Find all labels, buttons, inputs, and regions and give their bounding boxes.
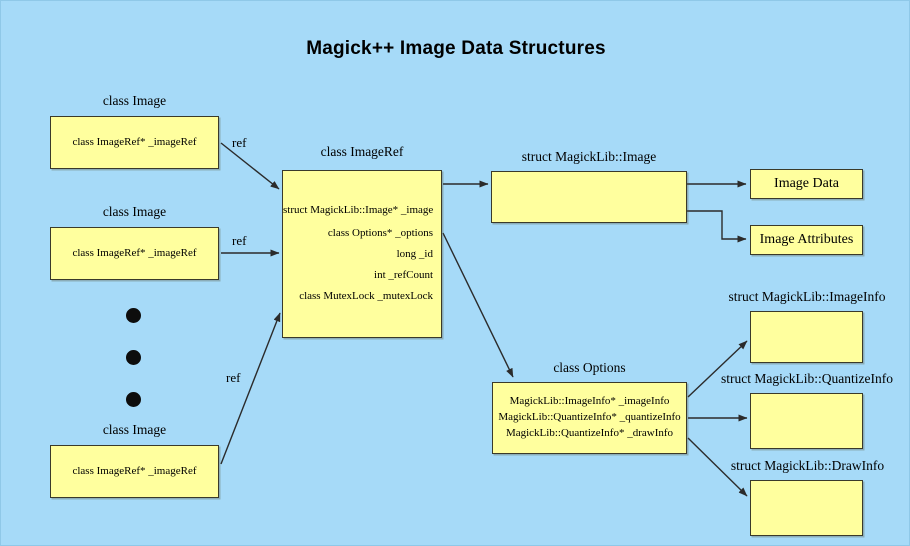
edge-label-ref-1: ref [232,135,246,151]
box-struct-drawinfo[interactable] [750,480,863,536]
box-image-data[interactable]: Image Data [750,169,863,199]
ellipsis-dot-3 [126,392,141,407]
member-image-1-imageref: class ImageRef* _imageRef [51,135,218,151]
caption-class-imageref: class ImageRef [282,144,442,160]
member-image-3-imageref: class ImageRef* _imageRef [51,464,218,480]
arrow-magicklib-image-to-image-attributes [687,211,746,239]
arrow-imageref-to-options [443,233,513,377]
caption-struct-drawinfo: struct MagickLib::DrawInfo [720,458,895,474]
edge-label-ref-3: ref [226,370,240,386]
box-class-options[interactable]: MagickLib::ImageInfo* _imageInfo MagickL… [492,382,687,454]
diagram-canvas: Magick++ Image Data Structures class Ima… [0,0,910,546]
member-image-2-imageref: class ImageRef* _imageRef [51,246,218,262]
caption-class-options: class Options [492,360,687,376]
edge-label-ref-2: ref [232,233,246,249]
caption-struct-magicklib-image: struct MagickLib::Image [491,149,687,165]
arrow-image1-to-imageref [221,143,279,189]
arrow-image3-to-imageref [221,313,280,464]
box-class-imageref[interactable]: struct MagickLib::Image* _image class Op… [282,170,442,338]
box-class-image-1[interactable]: class ImageRef* _imageRef [50,116,219,169]
caption-struct-quantizeinfo: struct MagickLib::QuantizeInfo [707,371,907,387]
box-struct-imageinfo[interactable] [750,311,863,363]
member-imageref-mutexlock: class MutexLock _mutexLock [283,289,433,305]
member-options-drawinfo: MagickLib::QuantizeInfo* _drawInfo [493,426,686,442]
ellipsis-dot-1 [126,308,141,323]
member-imageref-options: class Options* _options [283,226,433,242]
member-options-imageinfo: MagickLib::ImageInfo* _imageInfo [493,394,686,410]
box-image-attributes[interactable]: Image Attributes [750,225,863,255]
ellipsis-dot-2 [126,350,141,365]
label-image-data: Image Data [751,174,862,194]
caption-struct-imageinfo: struct MagickLib::ImageInfo [716,289,898,305]
member-imageref-image: struct MagickLib::Image* _image [283,203,433,219]
box-class-image-2[interactable]: class ImageRef* _imageRef [50,227,219,280]
member-options-quantizeinfo: MagickLib::QuantizeInfo* _quantizeInfo [493,410,686,426]
box-class-image-3[interactable]: class ImageRef* _imageRef [50,445,219,498]
box-struct-quantizeinfo[interactable] [750,393,863,449]
page-title: Magick++ Image Data Structures [1,38,910,60]
caption-class-image-2: class Image [50,204,219,220]
arrow-options-to-imageinfo [688,341,747,397]
caption-class-image-1: class Image [50,93,219,109]
caption-class-image-3: class Image [50,422,219,438]
label-image-attributes: Image Attributes [751,230,862,250]
member-imageref-id: long _id [283,247,433,263]
member-imageref-refcount: int _refCount [283,268,433,284]
box-struct-magicklib-image[interactable] [491,171,687,223]
